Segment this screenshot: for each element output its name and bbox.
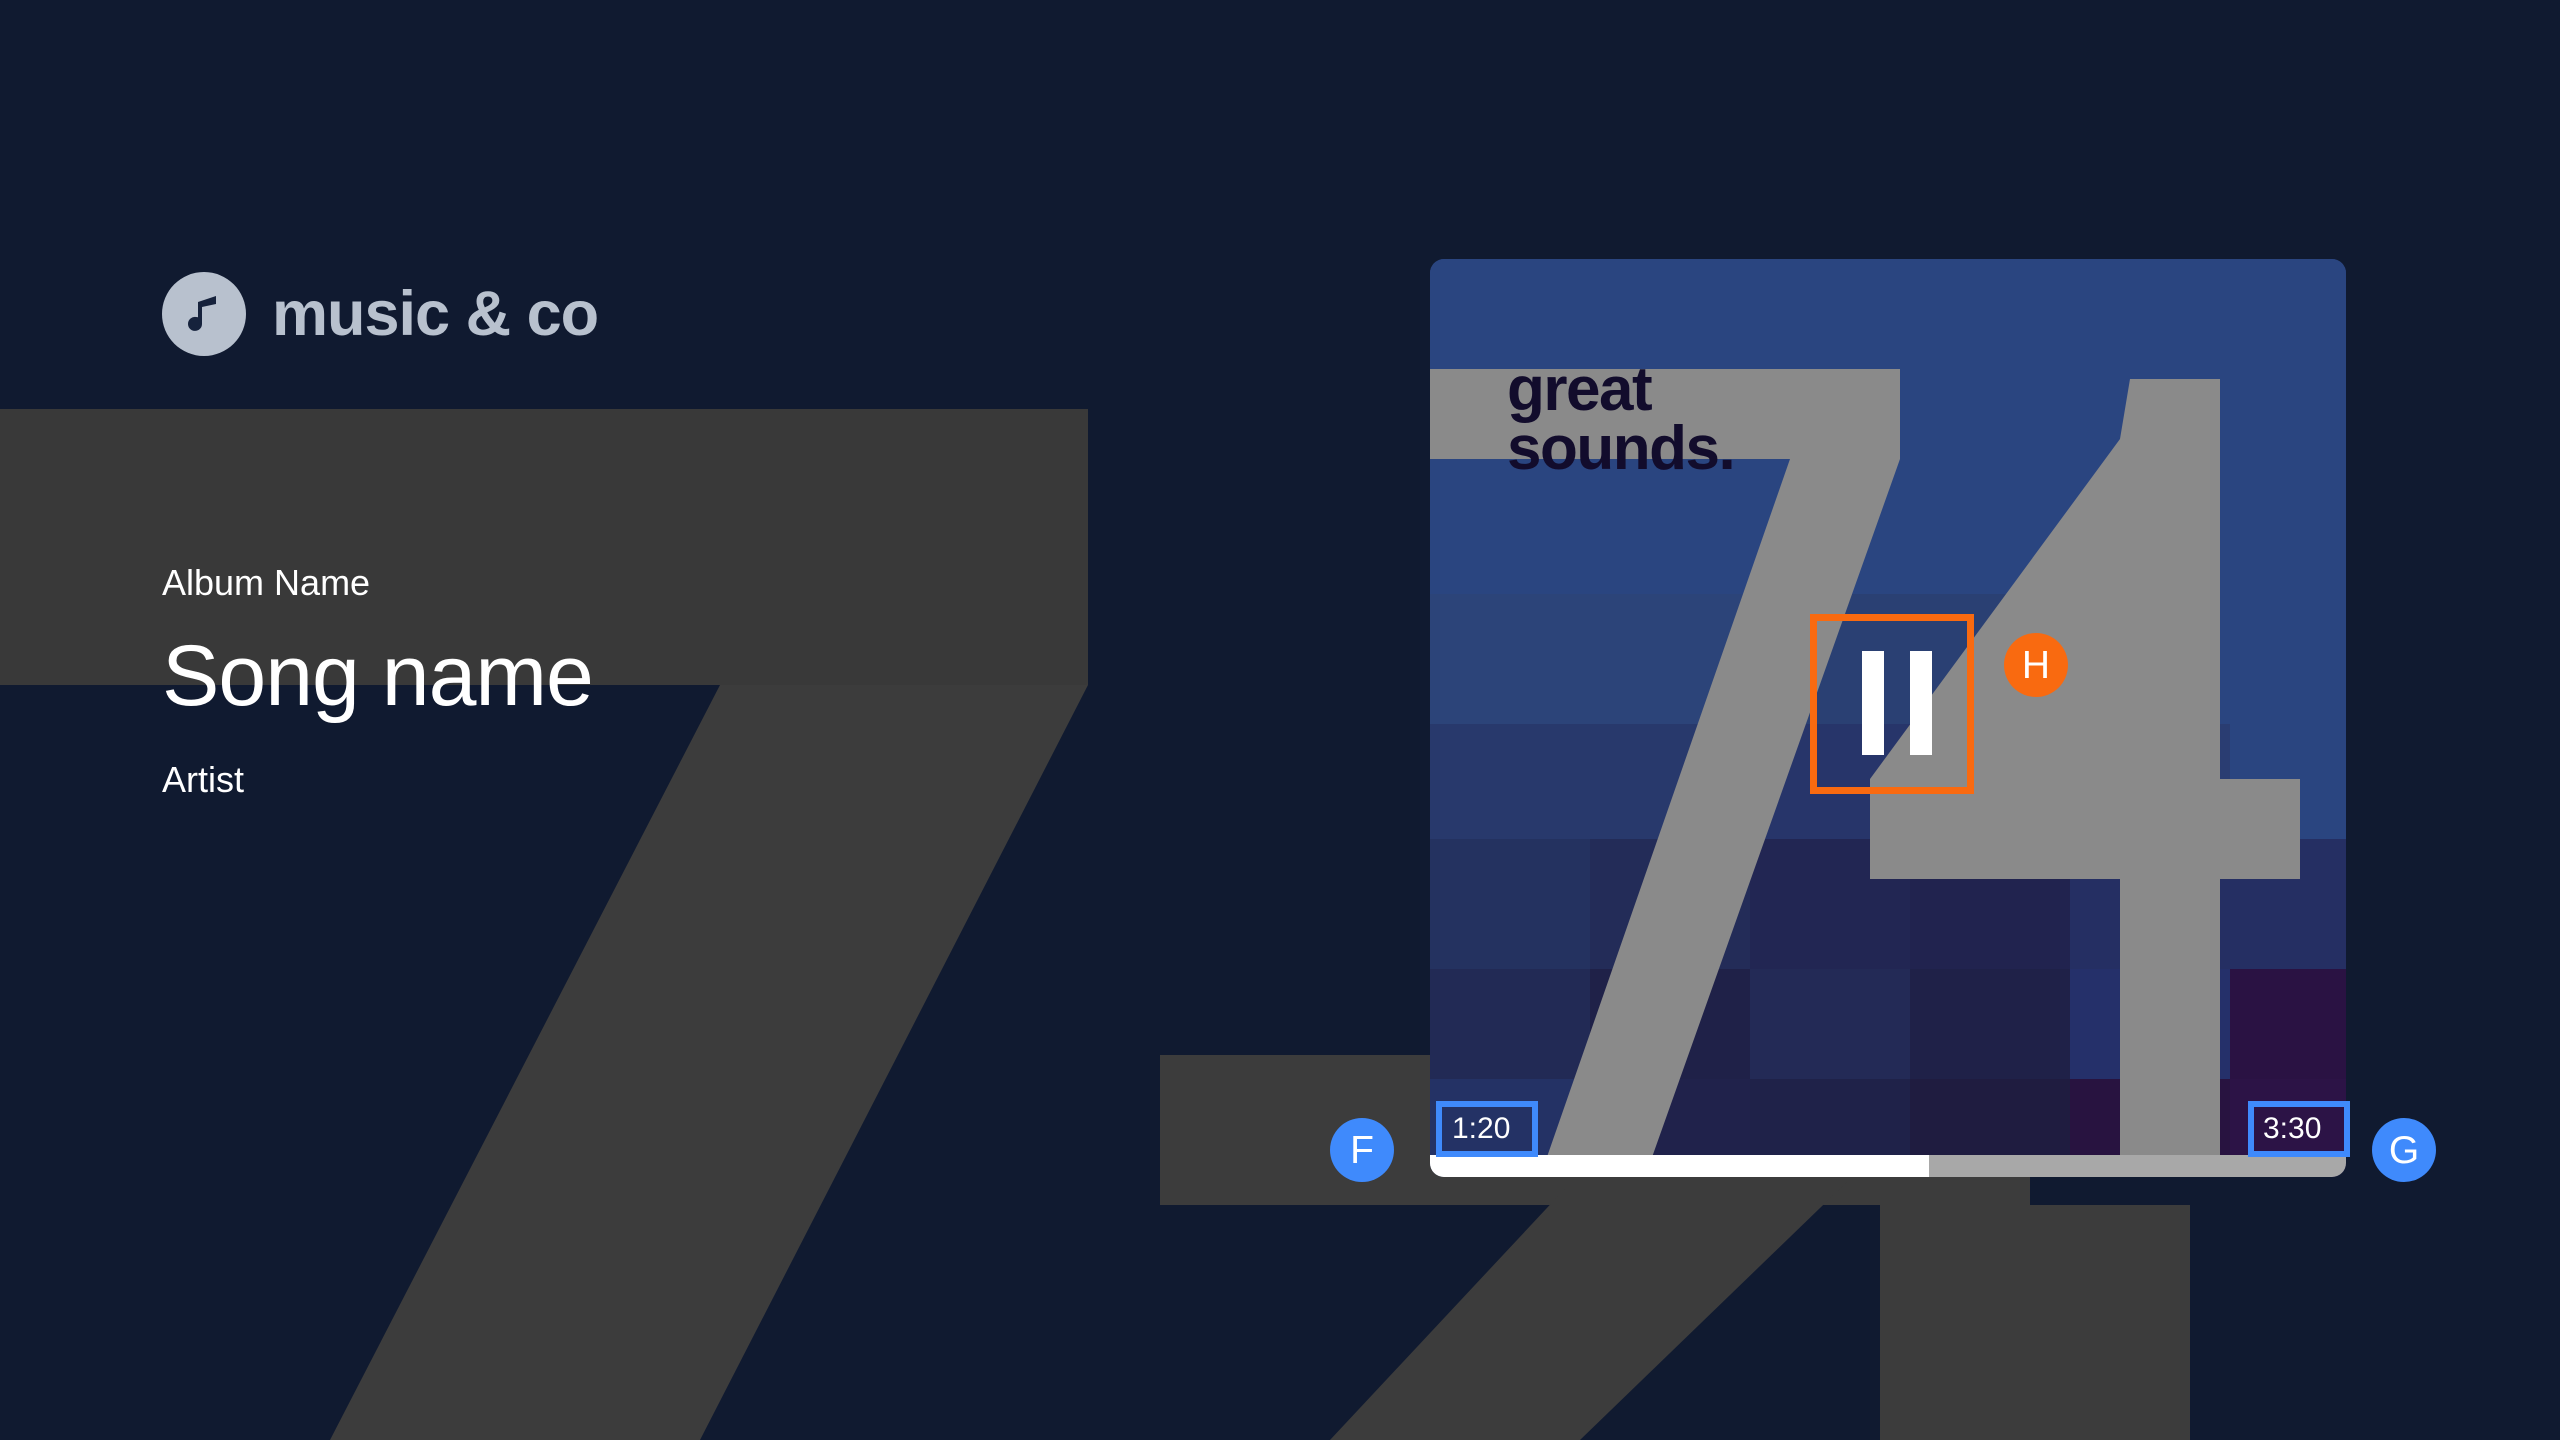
headline-line-1: great (1507, 361, 1734, 420)
pause-button[interactable] (1845, 645, 1949, 761)
headline-line-2: sounds. (1507, 420, 1734, 479)
song-title: Song name (162, 631, 593, 721)
annotation-badge-g: G (2372, 1118, 2436, 1182)
pause-icon-bar-2 (1910, 651, 1932, 755)
annotation-badge-f: F (1330, 1118, 1394, 1182)
now-playing-info: Album Name Song name Artist (162, 560, 593, 802)
album-art-headline: great sounds. (1507, 361, 1734, 479)
brand-logo[interactable]: music & co (162, 272, 598, 356)
pause-icon (1862, 651, 1884, 755)
annotation-badge-f-label: F (1350, 1131, 1374, 1170)
progress-bar[interactable] (1430, 1155, 2346, 1177)
brand-name: music & co (272, 283, 598, 346)
total-time: 3:30 (2263, 1114, 2321, 1144)
music-note-icon (162, 272, 246, 356)
music-player-screen: music & co Album Name Song name Artist (0, 0, 2560, 1440)
annotation-badge-g-label: G (2389, 1131, 2419, 1170)
artist-name: Artist (162, 757, 593, 802)
annotation-badge-h: H (2004, 633, 2068, 697)
album-name: Album Name (162, 560, 593, 605)
annotation-badge-h-label: H (2022, 646, 2050, 685)
progress-bar-fill (1430, 1155, 1929, 1177)
current-time: 1:20 (1452, 1114, 1510, 1144)
